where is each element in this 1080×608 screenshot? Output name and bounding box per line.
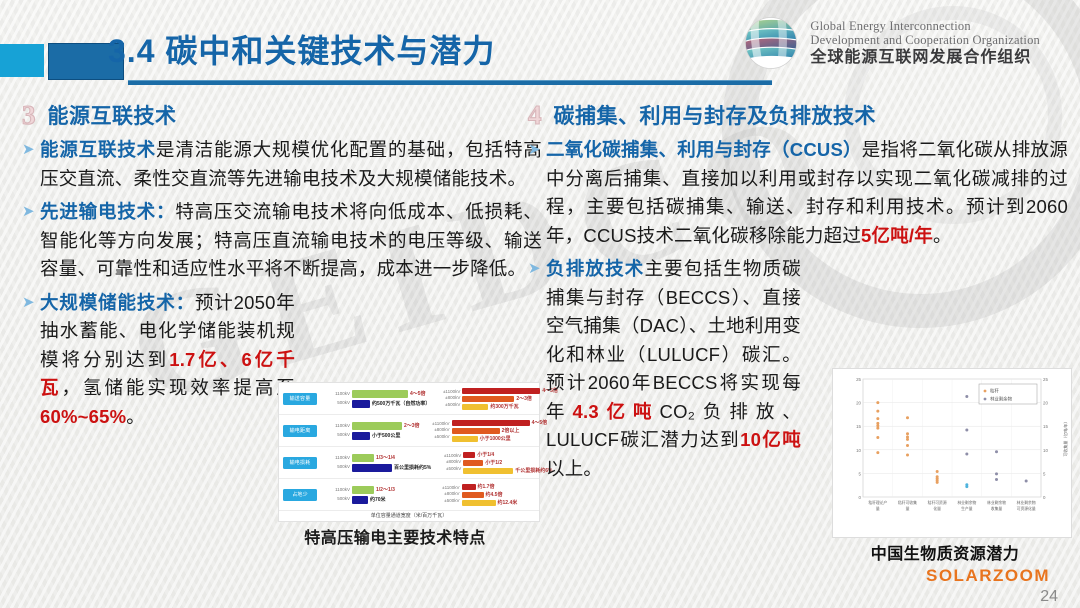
infographic-body: 输送容量1100kV500kV4～5倍约500万千瓦（自然功率）±1100kV±… [278, 382, 540, 522]
chart-data-point [906, 453, 909, 456]
chart-data-point [995, 450, 998, 453]
infographic-left-bars: 2～3倍小于500公里 [352, 422, 420, 440]
infographic-footer: 单位容量通道宽度（米/百万千瓦） [279, 511, 539, 519]
chart-data-point [965, 485, 968, 488]
svg-text:生产量: 生产量 [961, 506, 973, 511]
left-figure-caption: 特高压输电主要技术特点 [250, 524, 540, 548]
svg-text:20: 20 [856, 401, 861, 406]
chart-legend-label: 秸秆 [990, 388, 999, 395]
solarzoom-watermark: SOLARZOOM [926, 566, 1050, 586]
right-figure-caption: 中国生物质资源潜力 [820, 540, 1070, 564]
infographic-left-voltages: 1100kV500kV [320, 390, 352, 407]
infographic-left-voltages: 1100kV500kV [320, 454, 352, 471]
svg-text:15: 15 [1043, 424, 1048, 429]
infographic-row-tag: 输电距离 [283, 425, 317, 437]
left-bullet-3-text: 大规模储能技术：预计2050年抽水蓄能、电化学储能装机规模将分别达到1.7亿、6… [40, 289, 295, 432]
svg-text:5: 5 [859, 471, 862, 476]
left-bullet-3-part3: 。 [126, 406, 145, 427]
page-title: 3.4 碳中和关键技术与潜力 [108, 26, 495, 72]
left-bullet-1-keyword: 能源互联技术 [40, 139, 156, 160]
infographic-bar: 1/3～1/4 [352, 454, 431, 462]
chart-data-point [876, 427, 879, 430]
right-section-heading: 4 碳捕集、利用与封存及负排放技术 [528, 100, 1068, 130]
slide-canvas: GEIDCO 3.4 碳中和关键技术与潜力 [0, 0, 1080, 608]
right-bullet-2-highlight-1: 4.3亿吨 [572, 401, 659, 422]
bullet-arrow-icon: ➤ [22, 289, 40, 316]
right-bullet-1-text: 二氧化碳捕集、利用与封存（CCUS）是指将二氧化碳从排放源中分离后捕集、直接加以… [546, 136, 1068, 250]
chart-data-point [995, 478, 998, 481]
svg-text:林业剩余物: 林业剩余物 [957, 500, 976, 505]
chart-data-point [1025, 479, 1028, 482]
scatter-chart-svg: 00551010151520202525秸秆理论产量秸秆可收集量秸秆可资源化量林… [833, 369, 1071, 537]
logo-english-line1: Global Energy Interconnection [810, 19, 1040, 33]
left-section-title: 能源互联技术 [48, 100, 177, 130]
svg-text:0: 0 [859, 495, 862, 500]
infographic-row: 输送容量1100kV500kV4～5倍约500万千瓦（自然功率）±1100kV±… [279, 383, 539, 415]
infographic-left-voltages: 1100kV500kV [320, 486, 352, 503]
right-bullet-2-highlight-2: 10亿吨 [740, 429, 801, 450]
svg-text:0: 0 [1043, 495, 1046, 500]
infographic-left-bars: 1/2～1/3约70米 [352, 486, 430, 504]
chart-data-point [876, 436, 879, 439]
infographic-bar: 约70米 [352, 496, 430, 504]
svg-text:25: 25 [856, 377, 861, 382]
right-bullet-2-keyword: 负排放技术 [546, 258, 644, 279]
infographic-left-bars: 1/3～1/4百公里损耗约5% [352, 454, 431, 472]
infographic-row-tag: 输电损耗 [283, 457, 317, 469]
chart-plot-area: 00551010151520202525秸秆理论产量秸秆可收集量秸秆可资源化量林… [833, 369, 1071, 537]
bullet-arrow-icon: ➤ [528, 255, 546, 282]
chart-legend-label: 林业剩余物 [990, 396, 1013, 403]
svg-text:秸秆可收集: 秸秆可收集 [898, 500, 917, 505]
svg-text:量: 量 [876, 506, 880, 511]
left-bullet-3-keyword: 大规模储能技术： [40, 292, 195, 313]
infographic-row: 输电损耗1100kV500kV1/3～1/4百公里损耗约5%±1100kV±80… [279, 447, 539, 479]
uhv-transmission-infographic: 输送容量1100kV500kV4～5倍约500万千瓦（自然功率）±1100kV±… [278, 382, 540, 522]
infographic-bar: 1/2～1/3 [352, 486, 430, 494]
chart-data-point [876, 401, 879, 404]
page-number: 24 [1040, 588, 1058, 606]
bullet-arrow-icon: ➤ [22, 198, 40, 225]
infographic-bar: 小于500公里 [352, 432, 420, 440]
right-bullet-1-highlight: 5亿吨/年 [861, 225, 933, 246]
left-bullet-1: ➤ 能源互联技术是清洁能源大规模优化配置的基础，包括特高压交直流、柔性交直流等先… [22, 136, 542, 193]
infographic-row: 输电距离1100kV500kV2～3倍小于500公里±1100kV±800kV±… [279, 415, 539, 447]
right-bullet-1: ➤ 二氧化碳捕集、利用与封存（CCUS）是指将二氧化碳从排放源中分离后捕集、直接… [528, 136, 1068, 250]
right-bullet-2-part1: 主要包括生物质碳捕集与封存（BECCS）、直接空气捕集（DAC）、土地利用变化和… [546, 258, 801, 422]
bullet-arrow-icon: ➤ [22, 136, 40, 163]
infographic-row: 占地少1100kV500kV1/2～1/3约70米±1100kV±800kV±5… [279, 479, 539, 511]
chart-data-point [936, 481, 939, 484]
infographic-bar: 百公里损耗约5% [352, 464, 431, 472]
chart-data-point [906, 416, 909, 419]
logo-chinese-name: 全球能源互联网发展合作组织 [810, 49, 1040, 67]
infographic-bar: 约4.5倍 [462, 492, 540, 498]
chart-data-point [876, 410, 879, 413]
infographic-bar: 4～5倍 [352, 390, 430, 398]
chart-data-point [936, 470, 939, 473]
chart-data-point [965, 395, 968, 398]
chart-data-point [906, 438, 909, 441]
infographic-right-voltages: ±1100kV±800kV±500kV [430, 389, 462, 407]
infographic-row-tag: 占地少 [283, 489, 317, 501]
chart-data-point [906, 444, 909, 447]
svg-text:10: 10 [1043, 448, 1048, 453]
chart-data-point [995, 472, 998, 475]
infographic-right-voltages: ±1100kV±800kV±500kV [431, 453, 463, 471]
infographic-bar: 2～3倍 [352, 422, 420, 430]
right-section-title: 碳捕集、利用与封存及负排放技术 [554, 100, 877, 130]
left-bullet-3-part2: ，氢储能实现效率提高至 [61, 377, 295, 398]
svg-text:20: 20 [1043, 401, 1048, 406]
svg-text:收集量: 收集量 [991, 506, 1003, 511]
svg-text:可资源化量: 可资源化量 [1017, 506, 1036, 511]
chart-data-point [876, 417, 879, 420]
globe-logo-icon [742, 14, 800, 72]
chart-y-axis-label: 可收集量（亿吨/年） [1062, 419, 1068, 456]
svg-text:化量: 化量 [933, 506, 941, 511]
infographic-right-voltages: ±1100kV±800kV±500kV [420, 421, 452, 439]
left-bullet-2-text: 先进输电技术：特高压交流输电技术将向低成本、低损耗、智能化等方向发展；特高压直流… [40, 198, 542, 284]
svg-text:10: 10 [856, 448, 861, 453]
svg-text:秸秆可资源: 秸秆可资源 [928, 500, 947, 505]
chart-data-point [965, 453, 968, 456]
right-bullet-2-part3: 以上。 [546, 458, 602, 479]
logo-english-line2: Development and Cooperation Organization [810, 33, 1040, 47]
left-section-heading: 3 能源互联技术 [22, 100, 542, 130]
biomass-potential-chart: 00551010151520202525秸秆理论产量秸秆可收集量秸秆可资源化量林… [832, 368, 1072, 538]
svg-text:15: 15 [856, 424, 861, 429]
organization-logo: Global Energy Interconnection Developmen… [742, 14, 1040, 72]
right-section-number: 4 [528, 102, 542, 129]
infographic-left-voltages: 1100kV500kV [320, 422, 352, 439]
slide-header: 3.4 碳中和关键技术与潜力 [0, 0, 1080, 90]
right-bullet-1-keyword: 二氧化碳捕集、利用与封存（CCUS） [546, 139, 862, 160]
infographic-left-bars: 4～5倍约500万千瓦（自然功率） [352, 390, 430, 408]
left-bullet-2-keyword: 先进输电技术： [40, 201, 175, 222]
infographic-row-tag: 输送容量 [283, 393, 317, 405]
svg-text:量: 量 [906, 506, 910, 511]
header-rule [128, 80, 772, 85]
header-accent-cyan [0, 44, 44, 77]
infographic-right-voltages: ±1100kV±800kV±500kV [430, 485, 462, 503]
left-bullet-2: ➤ 先进输电技术：特高压交流输电技术将向低成本、低损耗、智能化等方向发展；特高压… [22, 198, 542, 284]
left-bullet-3-highlight-2: 60%~65% [40, 406, 126, 427]
svg-text:25: 25 [1043, 377, 1048, 382]
left-bullet-1-text: 能源互联技术是清洁能源大规模优化配置的基础，包括特高压交直流、柔性交直流等先进输… [40, 136, 542, 193]
svg-text:秸秆理论产: 秸秆理论产 [868, 500, 887, 505]
right-bullet-2-text: 负排放技术主要包括生物质碳捕集与封存（BECCS）、直接空气捕集（DAC）、土地… [546, 255, 801, 483]
svg-text:林业剩余物: 林业剩余物 [1017, 500, 1036, 505]
svg-text:5: 5 [1043, 471, 1046, 476]
right-bullet-1-part2: 。 [933, 225, 952, 246]
infographic-bar: 约500万千瓦（自然功率） [352, 400, 430, 408]
svg-text:林业剩余物: 林业剩余物 [987, 500, 1006, 505]
infographic-bar: 约12.4米 [462, 500, 540, 506]
chart-data-point [876, 451, 879, 454]
chart-data-point [906, 432, 909, 435]
bullet-arrow-icon: ➤ [528, 136, 546, 163]
chart-data-point [965, 428, 968, 431]
left-section-number: 3 [22, 102, 36, 129]
